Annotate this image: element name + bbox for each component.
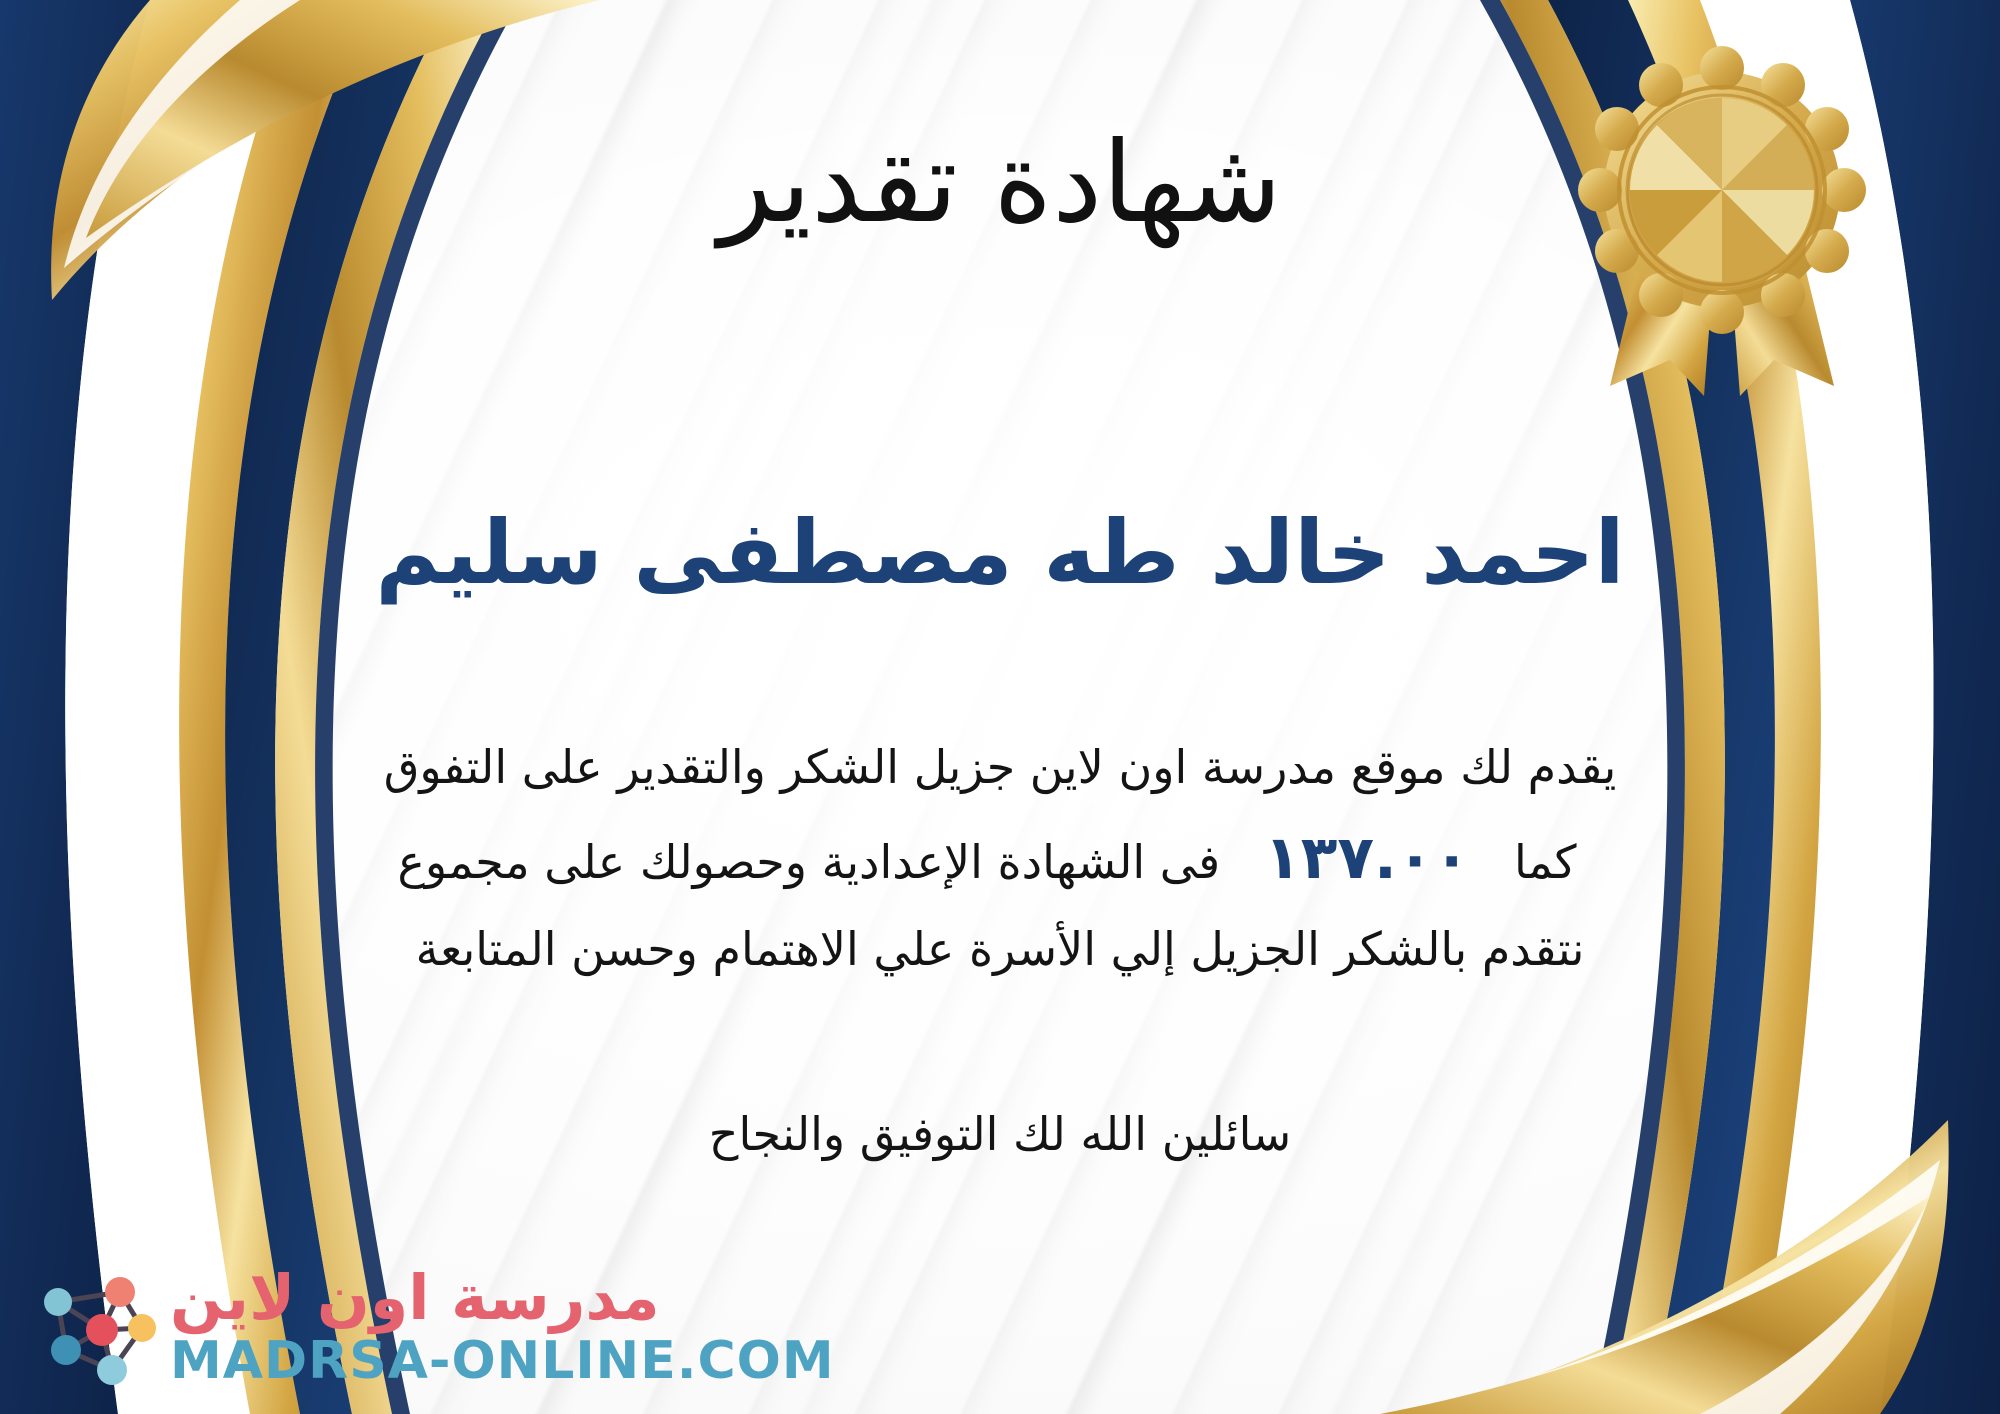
body-line-1: يقدم لك موقع مدرسة اون لاين جزيل الشكر و…	[70, 728, 1930, 807]
page-title: شهادة تقدير	[0, 122, 2000, 245]
grade-total-value: ١٣٧.٠٠	[1254, 807, 1480, 910]
body-line-2-before: فى الشهادة الإعدادية وحصولك على مجموع	[397, 823, 1220, 902]
body-line-2: كما ١٣٧.٠٠ فى الشهادة الإعدادية وحصولك ع…	[70, 807, 1930, 910]
brand-logo[interactable]: مدرسة اون لاين MADRSA-ONLINE.COM	[30, 1262, 835, 1392]
network-graph-icon	[30, 1262, 160, 1392]
brand-website[interactable]: MADRSA-ONLINE.COM	[170, 1335, 835, 1387]
closing-wish: سائلين الله لك التوفيق والنجاح	[0, 1098, 2000, 1172]
recipient-name: احمد خالد طه مصطفى سليم	[0, 498, 2000, 608]
certificate-content: شهادة تقدير احمد خالد طه مصطفى سليم يقدم…	[0, 0, 2000, 1414]
brand-name-arabic: مدرسة اون لاين	[170, 1267, 660, 1329]
certificate-canvas: شهادة تقدير احمد خالد طه مصطفى سليم يقدم…	[0, 0, 2000, 1414]
body-line-2-after: كما	[1514, 823, 1603, 902]
body-line-3: نتقدم بالشكر الجزيل إلي الأسرة علي الاهت…	[70, 910, 1930, 989]
certificate-body: يقدم لك موقع مدرسة اون لاين جزيل الشكر و…	[70, 728, 1930, 989]
brand-text: مدرسة اون لاين MADRSA-ONLINE.COM	[170, 1267, 835, 1387]
